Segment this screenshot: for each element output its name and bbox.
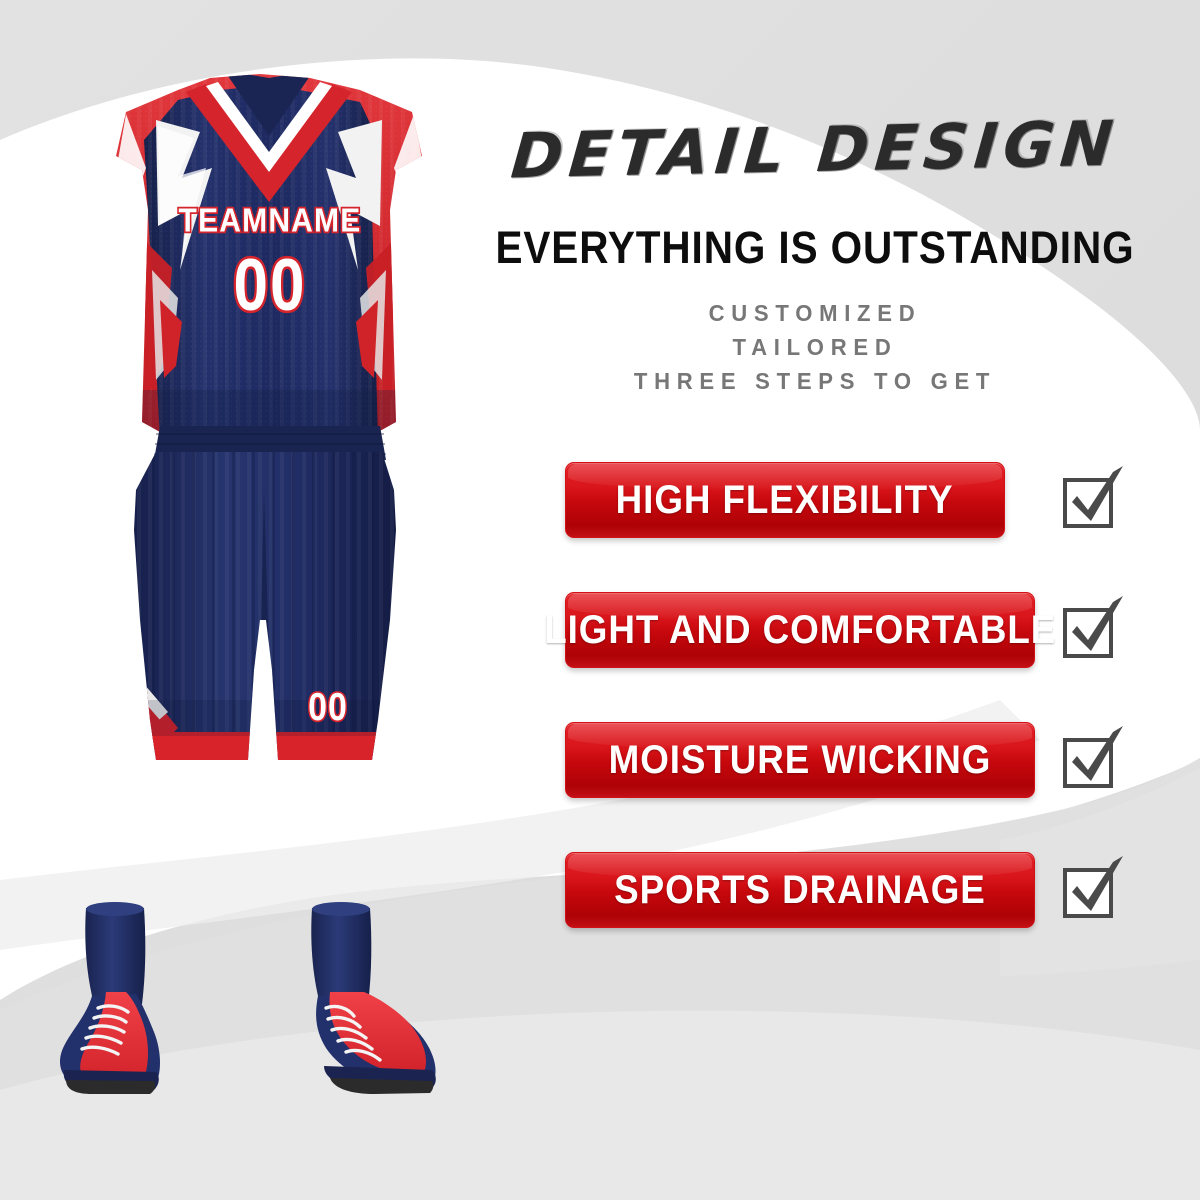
uniform-svg: TEAMNAME 00 [60, 60, 480, 820]
tagline-2: TAILORED [469, 330, 1160, 364]
page-title: DETAIL DESIGN [509, 113, 1121, 188]
feature-banner-high-flexibility[interactable]: HIGH FLEXIBILITY [565, 462, 1005, 538]
feature-banner-moisture-wicking[interactable]: MOISTURE WICKING [565, 722, 1035, 798]
jersey-number: 00 [234, 245, 307, 326]
feature-row: HIGH FLEXIBILITY [565, 462, 1185, 592]
feature-label: SPORTS DRAINAGE [614, 868, 986, 913]
tagline-1: CUSTOMIZED [469, 296, 1160, 330]
feature-banner-light-and-comfortable[interactable]: LIGHT AND COMFORTABLE [565, 592, 1035, 668]
checkbox-checked-icon[interactable] [1055, 592, 1129, 668]
checkbox-checked-icon[interactable] [1055, 722, 1129, 798]
feature-list: HIGH FLEXIBILITY LIGHT AND COMFORTABLE [565, 462, 1185, 982]
feature-row: MOISTURE WICKING [565, 722, 1185, 852]
jersey-team-name: TEAMNAME [179, 201, 362, 239]
shoe-right [311, 902, 436, 1094]
feature-row: SPORTS DRAINAGE [565, 852, 1185, 982]
shorts-number: 00 [308, 685, 348, 729]
feature-label: MOISTURE WICKING [609, 738, 992, 783]
checkbox-checked-icon[interactable] [1055, 462, 1129, 538]
checkbox-checked-icon[interactable] [1055, 852, 1129, 928]
poster-canvas: TEAMNAME 00 [0, 0, 1200, 1200]
shoes-illustration [50, 900, 500, 1160]
page-subtitle: EVERYTHING IS OUTSTANDING [491, 222, 1139, 274]
title-block: DETAIL DESIGN [455, 100, 1175, 200]
shoes-svg [50, 900, 500, 1160]
feature-label: LIGHT AND COMFORTABLE [544, 608, 1056, 653]
taglines: CUSTOMIZED TAILORED THREE STEPS TO GET [469, 296, 1160, 398]
shorts: 00 [60, 440, 480, 780]
text-column: DETAIL DESIGN EVERYTHING IS OUTSTANDING … [455, 100, 1175, 398]
tagline-3: THREE STEPS TO GET [469, 364, 1160, 398]
feature-row: LIGHT AND COMFORTABLE [565, 592, 1185, 722]
feature-banner-sports-drainage[interactable]: SPORTS DRAINAGE [565, 852, 1035, 928]
shoe-left [60, 902, 160, 1094]
feature-label: HIGH FLEXIBILITY [616, 478, 954, 523]
uniform-illustration: TEAMNAME 00 [60, 60, 480, 820]
jersey: TEAMNAME 00 [60, 60, 480, 460]
